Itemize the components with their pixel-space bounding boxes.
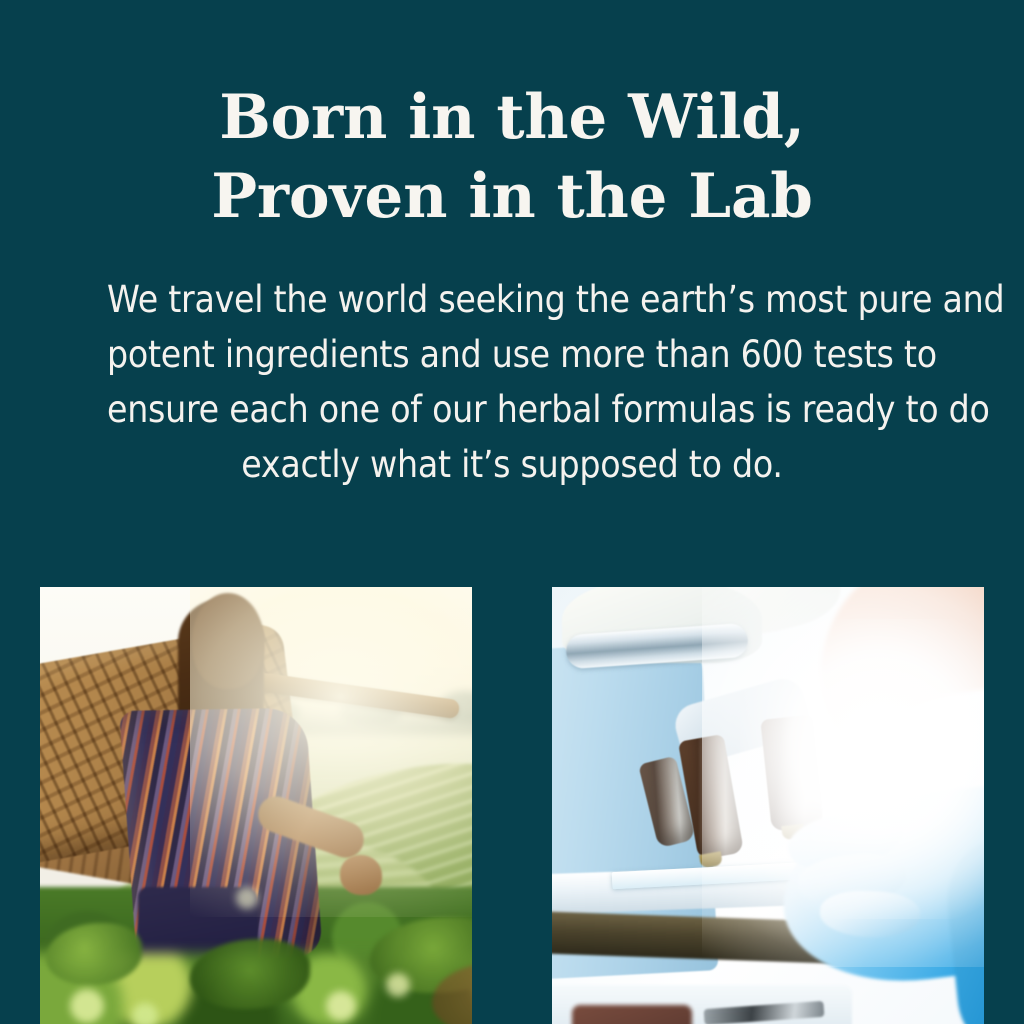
- tea-harvester-photo: [40, 587, 472, 1024]
- bokeh-highlight: [326, 991, 356, 1021]
- promo-card: Born in the Wild, Proven in the Lab We t…: [0, 0, 1024, 1024]
- body-line-1: We travel the world seeking the earth’s …: [107, 272, 917, 327]
- harvester-hand: [340, 855, 382, 895]
- base-shadow: [572, 1005, 692, 1024]
- photo-strip: [0, 571, 1024, 1024]
- body-line-3: ensure each one of our herbal formulas i…: [107, 382, 917, 437]
- bokeh-highlight: [386, 973, 410, 997]
- headline-line-1: Born in the Wild,: [62, 78, 962, 157]
- bokeh-highlight: [236, 887, 258, 909]
- text-panel: Born in the Wild, Proven in the Lab We t…: [0, 0, 1024, 571]
- body-copy: We travel the world seeking the earth’s …: [107, 272, 917, 492]
- harvester-head: [192, 593, 264, 689]
- headline-line-2: Proven in the Lab: [62, 157, 962, 236]
- body-line-2: potent ingredients and use more than 600…: [107, 327, 917, 382]
- bokeh-highlight: [132, 1003, 158, 1024]
- body-line-4: exactly what it’s supposed to do.: [107, 437, 917, 492]
- lab-microscope-photo: [552, 587, 984, 1024]
- page-title: Born in the Wild, Proven in the Lab: [62, 78, 962, 236]
- bokeh-highlight: [70, 989, 104, 1023]
